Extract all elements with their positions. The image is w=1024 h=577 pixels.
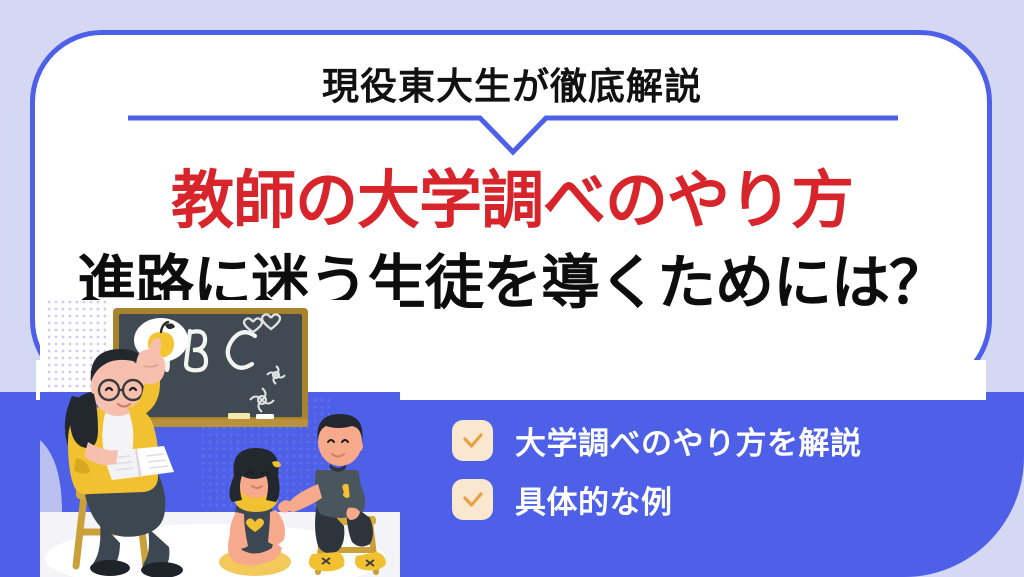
list-item: 大学調べのやり方を解説 [452,418,862,463]
check-icon [452,479,493,520]
classroom-illustration [40,300,400,577]
list-item-label: 大学調べのやり方を解説 [515,418,862,463]
banner-thumbnail: 現役東大生が徹底解説 教師の大学調べのやり方 進路に迷う生徒を導くためには？ 大… [0,0,1024,577]
list-item: 具体的な例 [452,477,862,522]
list-item-label: 具体的な例 [515,477,673,522]
bullet-list: 大学調べのやり方を解説 具体的な例 [452,418,862,536]
page-title-main: 教師の大学調べのやり方 [0,168,1024,234]
kicker-text: 現役東大生が徹底解説 [0,56,1024,110]
check-icon [452,420,493,461]
divider-with-chevron [128,112,898,156]
